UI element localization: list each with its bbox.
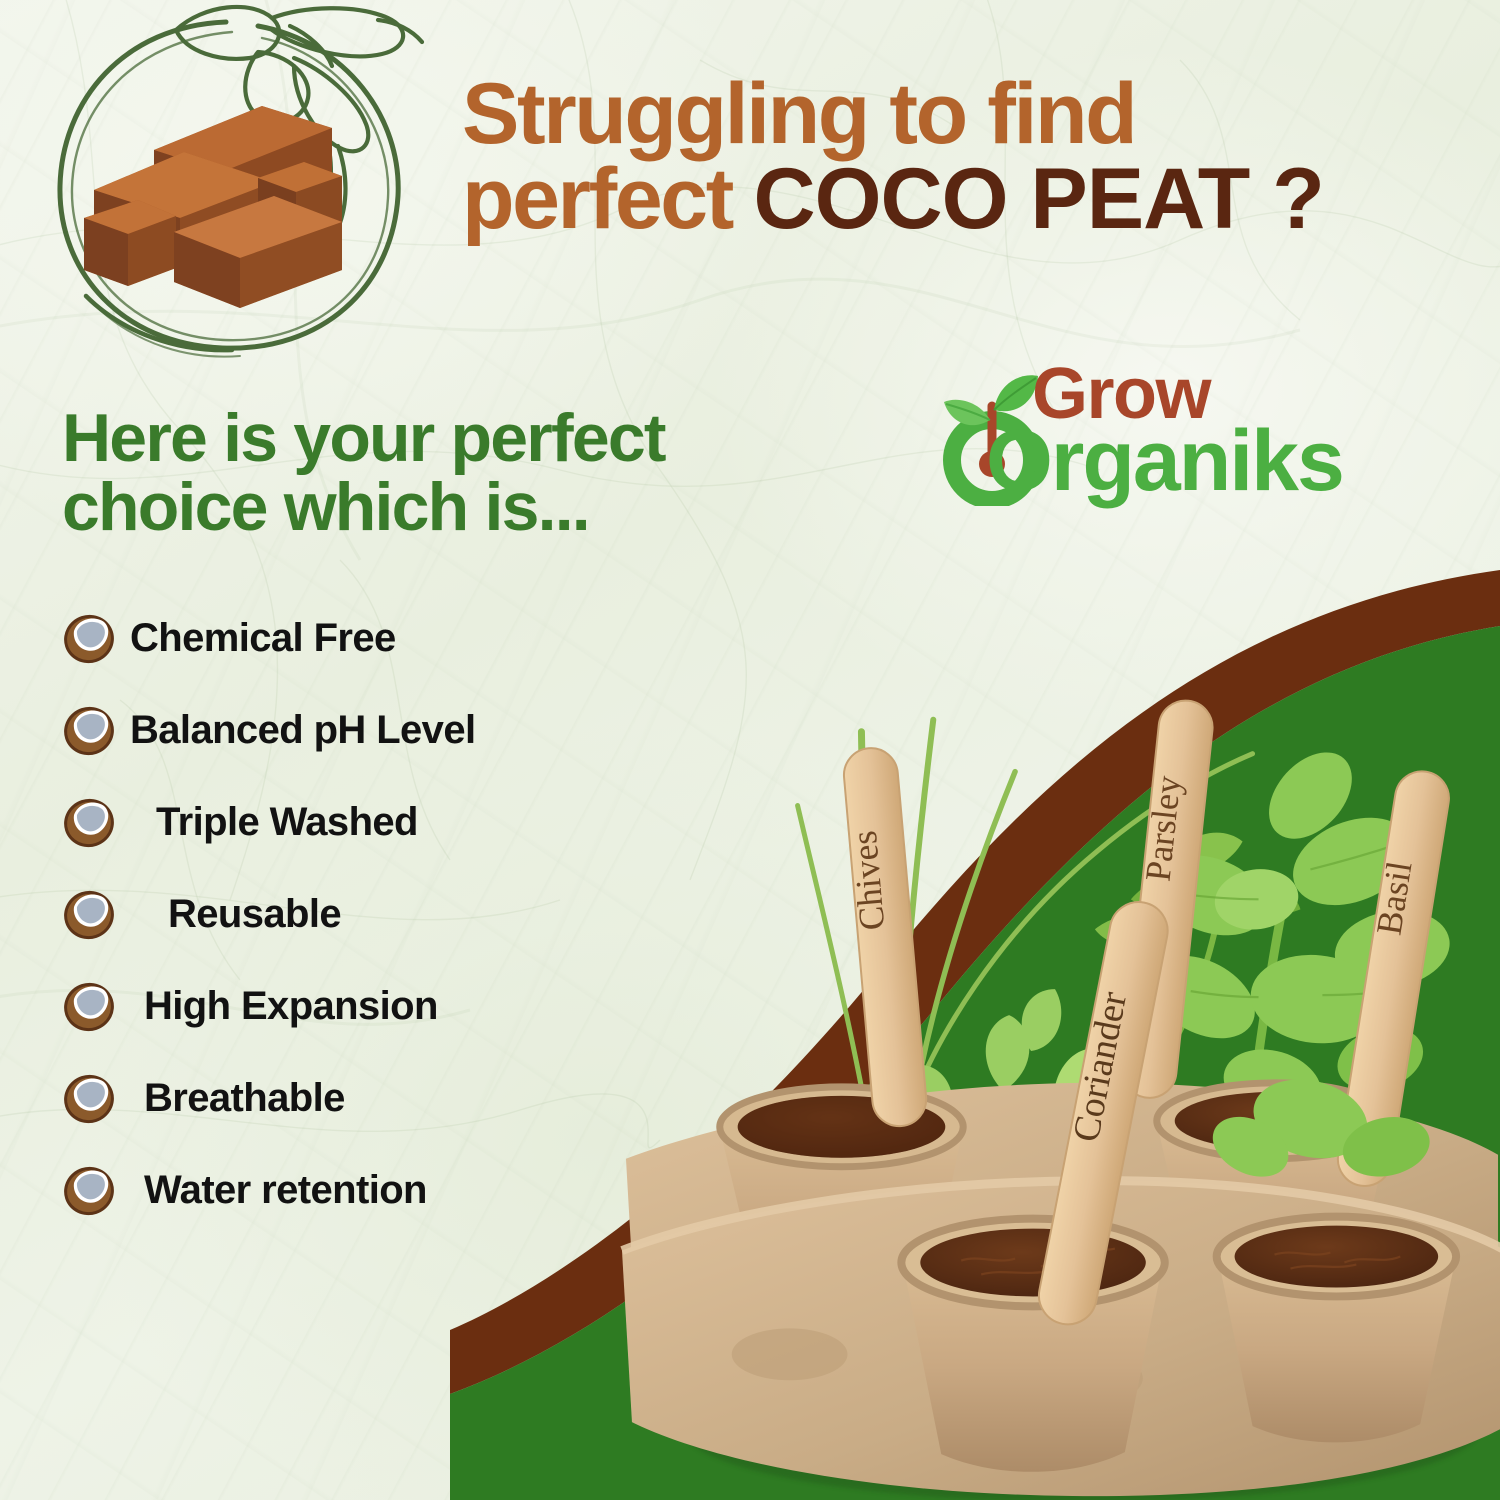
pot-front-center [901, 1219, 1164, 1472]
subheadline-line-1: Here is your perfect [62, 404, 852, 473]
headline-line-2-emphasis: COCO PEAT ? [753, 151, 1323, 247]
feature-label: Water retention [144, 1168, 427, 1213]
list-item: Balanced pH Level [58, 684, 698, 776]
feature-label: Triple Washed [156, 800, 418, 845]
feature-label: Breathable [144, 1076, 345, 1121]
coconut-icon [58, 977, 120, 1035]
feature-label: Chemical Free [130, 616, 396, 661]
poster-canvas: Struggling to find perfect COCO PEAT ? H… [0, 0, 1500, 1500]
coconut-icon [58, 793, 120, 851]
headline-line-2-prefix: perfect [462, 151, 753, 247]
list-item: Triple Washed [58, 776, 698, 868]
plant-label-chives: Chives [837, 746, 929, 1129]
list-item: High Expansion [58, 960, 698, 1052]
brand-logo: Grow Organiks [936, 362, 1336, 512]
feature-label: Reusable [168, 892, 341, 937]
coconut-icon [58, 1069, 120, 1127]
subheadline: Here is your perfect choice which is... [62, 404, 852, 543]
feature-label: High Expansion [144, 984, 438, 1029]
seedling-tray-photo: Chives Parsley Coriander Basil [612, 600, 1500, 1500]
coconut-icon [58, 1161, 120, 1219]
coconut-icon [58, 701, 120, 759]
pot-front-right [1217, 1217, 1456, 1443]
headline: Struggling to find perfect COCO PEAT ? [462, 72, 1472, 242]
subheadline-line-2: choice which is... [62, 473, 852, 542]
coconut-icon [58, 609, 120, 667]
logo-word-organiks: Organiks [986, 418, 1343, 504]
list-item: Breathable [58, 1052, 698, 1144]
feature-label: Balanced pH Level [130, 708, 475, 753]
list-item: Water retention [58, 1144, 698, 1236]
list-item: Chemical Free [58, 592, 698, 684]
list-item: Reusable [58, 868, 698, 960]
coconut-icon [58, 885, 120, 943]
headline-line-1: Struggling to find [462, 72, 1472, 157]
coco-peat-bricks-badge [26, 0, 436, 376]
feature-list: Chemical Free Balanced pH Level Triple W… [58, 592, 698, 1236]
coco-peat-brick-stack [84, 106, 342, 308]
